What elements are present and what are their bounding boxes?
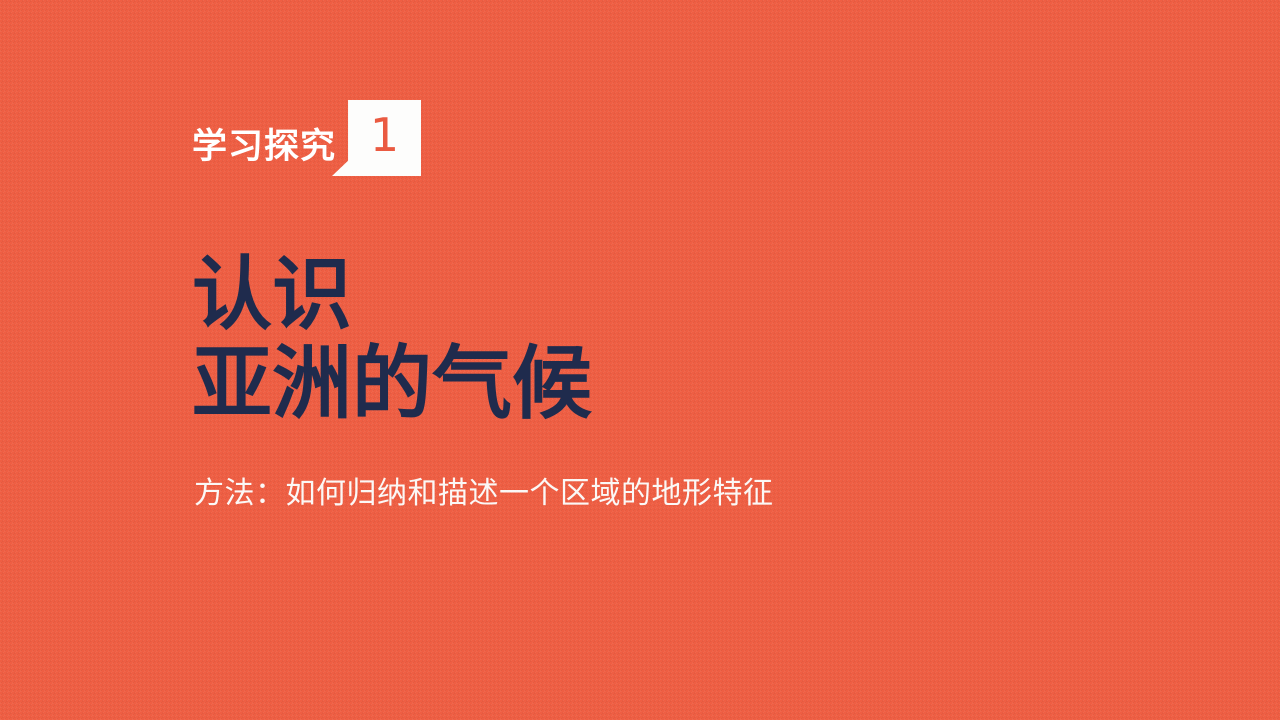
- eyebrow-row: 学习探究 1: [192, 96, 421, 176]
- page-title: 认识 亚洲的气候: [192, 250, 592, 429]
- page-title-line-1: 认识: [192, 250, 592, 340]
- page-title-line-2: 亚洲的气候: [192, 339, 592, 429]
- eyebrow-label: 学习探究: [192, 129, 336, 176]
- section-number-badge: 1: [332, 100, 421, 176]
- badge-number-label: 1: [348, 100, 421, 170]
- page-subtitle: 方法：如何归纳和描述一个区域的地形特征: [194, 474, 774, 513]
- slide-canvas: 学习探究 1 认识 亚洲的气候 方法：如何归纳和描述一个区域的地形特征: [0, 0, 1280, 720]
